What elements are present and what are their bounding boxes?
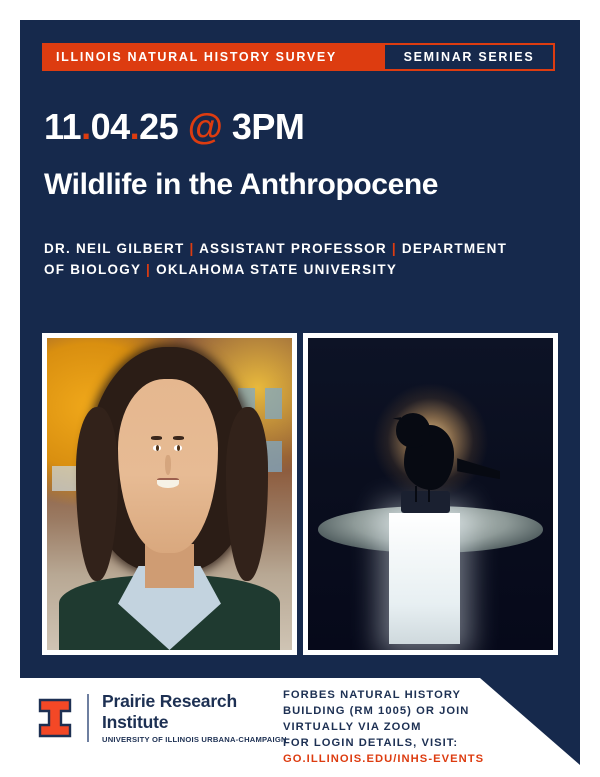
bird-lamp-frame <box>303 333 558 655</box>
prairie-research-institute-brand: Prairie Research Institute UNIVERSITY OF… <box>38 691 287 744</box>
poster-footer: Prairie Research Institute UNIVERSITY OF… <box>20 678 580 765</box>
portrait-smile <box>157 478 179 488</box>
background-window <box>52 466 77 491</box>
background-window <box>265 388 282 419</box>
date-year: 25 <box>139 106 178 147</box>
bird-silhouette <box>389 413 472 500</box>
brand-text: Prairie Research Institute UNIVERSITY OF… <box>102 691 287 744</box>
background-window <box>265 441 282 472</box>
organization-label: ILLINOIS NATURAL HISTORY SURVEY <box>56 50 337 64</box>
venue-line-3: VIRTUALLY VIA ZOOM <box>283 720 533 736</box>
institute-name-line-1: Prairie Research <box>102 691 287 712</box>
date-dot-1: . <box>81 106 91 147</box>
seminar-poster: ILLINOIS NATURAL HISTORY SURVEY SEMINAR … <box>20 20 580 765</box>
date-day: 04 <box>91 106 130 147</box>
bird-lamp-image <box>308 338 553 650</box>
at-symbol: @ <box>188 106 223 147</box>
speaker-institution: OKLAHOMA STATE UNIVERSITY <box>156 262 397 277</box>
venue-line-1: FORBES NATURAL HISTORY <box>283 688 533 704</box>
event-datetime: 11.04.25 @ 3PM <box>44 106 304 148</box>
speaker-separator-2: | <box>392 241 397 256</box>
bird-head <box>396 413 431 448</box>
institute-name-line-2: Institute <box>102 712 287 733</box>
speaker-separator-1: | <box>190 241 195 256</box>
event-url[interactable]: GO.ILLINOIS.EDU/INHS-EVENTS <box>283 752 533 765</box>
date-dot-2: . <box>130 106 140 147</box>
bird-tail <box>457 458 500 479</box>
organization-banner: ILLINOIS NATURAL HISTORY SURVEY <box>42 43 383 71</box>
series-tag-box: SEMINAR SERIES <box>383 43 555 71</box>
lamp-light <box>389 513 460 644</box>
venue-line-2: BUILDING (RM 1005) OR JOIN <box>283 704 533 720</box>
speaker-separator-3: | <box>146 262 151 277</box>
date-month: 11 <box>44 106 81 147</box>
portrait-brow-right <box>173 436 184 439</box>
speaker-portrait-frame <box>42 333 297 655</box>
header-banner: ILLINOIS NATURAL HISTORY SURVEY SEMINAR … <box>42 43 555 71</box>
speaker-name: DR. NEIL GILBERT <box>44 241 185 256</box>
portrait-eye-right <box>174 445 182 451</box>
portrait-eye-left <box>153 445 161 451</box>
venue-line-4: FOR LOGIN DETAILS, VISIT: <box>283 736 533 752</box>
photo-row <box>42 333 558 655</box>
bird-beak <box>393 417 401 420</box>
portrait-nose <box>165 455 171 474</box>
portrait-hair-right <box>226 407 268 582</box>
venue-details: FORBES NATURAL HISTORY BUILDING (RM 1005… <box>283 688 533 765</box>
bird-leg <box>415 486 417 502</box>
page-title: Wildlife in the Anthropocene <box>44 168 560 202</box>
brand-divider <box>87 694 89 742</box>
block-i-logo-icon <box>38 698 72 738</box>
series-tag-label: SEMINAR SERIES <box>404 50 535 64</box>
speaker-portrait-image <box>47 338 292 650</box>
bird-leg <box>428 486 430 502</box>
university-name: UNIVERSITY OF ILLINOIS URBANA-CHAMPAIGN <box>102 735 287 744</box>
speaker-credits: DR. NEIL GILBERT | ASSISTANT PROFESSOR |… <box>44 239 519 281</box>
speaker-role: ASSISTANT PROFESSOR <box>199 241 387 256</box>
portrait-hair-left <box>76 407 118 582</box>
event-time: 3PM <box>232 106 305 147</box>
portrait-brow-left <box>151 436 162 439</box>
